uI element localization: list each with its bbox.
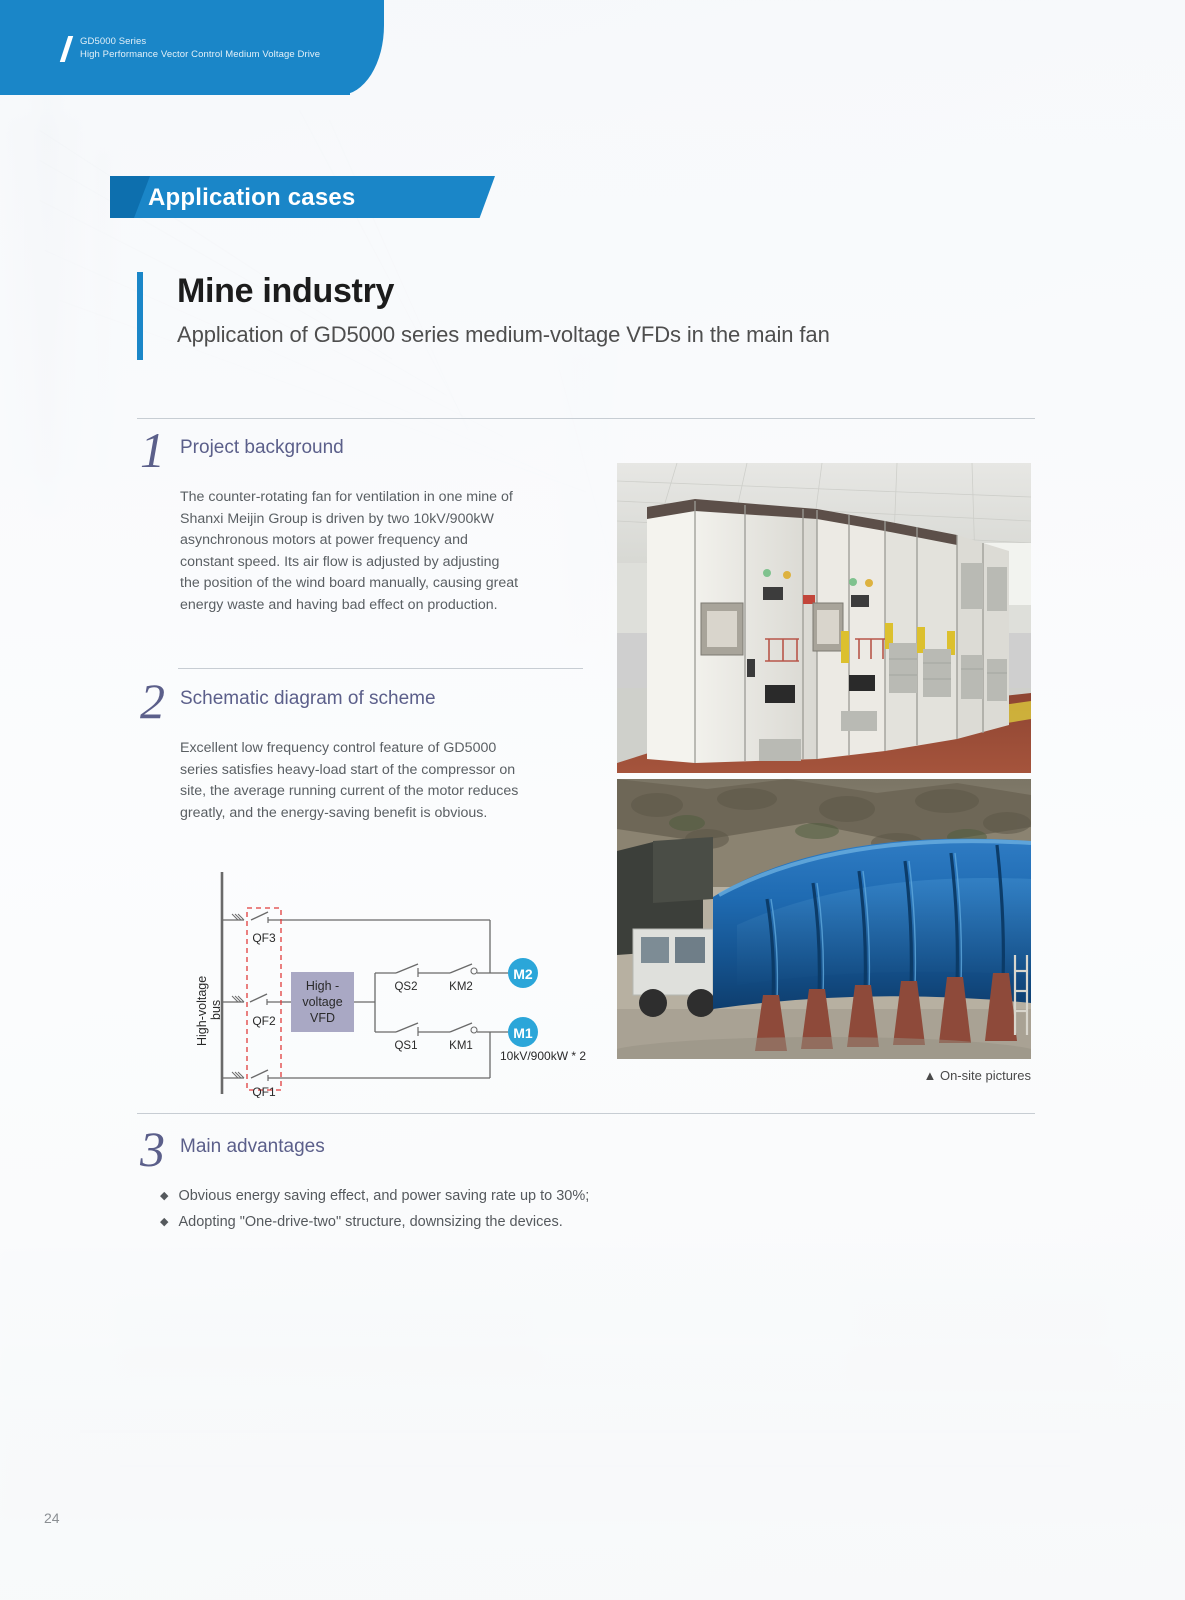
vfd-label-line-3: VFD <box>310 1011 335 1025</box>
high-voltage-bus-label-line-1: High-voltage <box>195 976 209 1046</box>
switch-qs1-label: QS1 <box>394 1040 417 1052</box>
breaker-qf2-label: QF2 <box>252 1014 276 1028</box>
motor-m1-label: M1 <box>513 1025 533 1041</box>
background-shape <box>600 330 614 670</box>
motor-m2-label: M2 <box>513 966 533 982</box>
photo-caption: ▲ On-site pictures <box>760 1068 1031 1083</box>
header-series-tagline: High Performance Vector Control Medium V… <box>80 49 320 62</box>
background-shape <box>40 200 504 437</box>
section-1-body: The counter-rotating fan for ventilation… <box>180 487 520 616</box>
application-cases-tab: Application cases <box>110 176 495 218</box>
advantages-list: ◆ Obvious energy saving effect, and powe… <box>160 1186 589 1238</box>
page-subtitle: Application of GD5000 series medium-volt… <box>177 322 830 348</box>
diamond-bullet-icon: ◆ <box>160 1214 168 1231</box>
motor-rating-label: 10kV/900kW * 2 <box>500 1049 586 1063</box>
background-shape <box>850 1290 1110 1380</box>
section-1-number: 1 <box>140 425 165 475</box>
advantage-text: Obvious energy saving effect, and power … <box>178 1186 589 1208</box>
application-cases-label: Application cases <box>148 184 355 212</box>
background-shape <box>36 90 58 510</box>
page-title: Mine industry <box>177 272 394 311</box>
section-1-heading: Project background <box>180 437 344 459</box>
divider-above-section-2 <box>178 668 583 669</box>
switch-km1-label: KM1 <box>449 1040 473 1052</box>
schematic-diagram: High - voltage VFD M2 QS2 KM2 M1 QS1 KM1 <box>178 868 598 1098</box>
advantage-text: Adopting "One-drive-two" structure, down… <box>178 1212 562 1234</box>
background-shape <box>0 1345 1185 1395</box>
header-brand-text: GD5000 Series High Performance Vector Co… <box>80 36 320 62</box>
photo-drive-cabinets <box>617 463 1031 773</box>
background-shape <box>80 1430 1080 1433</box>
divider-above-section-1 <box>137 418 1035 419</box>
section-2-body: Excellent low frequency control feature … <box>180 738 520 824</box>
background-shape <box>0 1400 1185 1520</box>
list-item: ◆ Obvious energy saving effect, and powe… <box>160 1186 589 1208</box>
section-2-number: 2 <box>140 676 165 726</box>
background-shape <box>10 120 80 480</box>
section-3-number: 3 <box>140 1124 165 1174</box>
breaker-qf3-label: QF3 <box>252 931 276 945</box>
background-shape <box>565 350 595 650</box>
page-number: 24 <box>44 1510 60 1526</box>
high-voltage-bus-label-line-2: bus <box>209 1000 223 1020</box>
background-shape <box>95 150 111 480</box>
vfd-label-line-1: High - <box>306 979 339 993</box>
photo-mine-fan <box>617 779 1031 1059</box>
background-shape <box>120 1465 1070 1467</box>
switch-qs2-label: QS2 <box>394 981 417 993</box>
breaker-qf1-label: QF1 <box>252 1085 276 1098</box>
background-shape <box>299 110 469 428</box>
background-shape <box>0 1250 1185 1340</box>
diamond-bullet-icon: ◆ <box>160 1188 168 1205</box>
section-2-heading: Schematic diagram of scheme <box>180 688 436 710</box>
background-shape <box>120 1300 540 1370</box>
switch-km2-label: KM2 <box>449 981 473 993</box>
header-series-name: GD5000 Series <box>80 36 320 49</box>
list-item: ◆ Adopting "One-drive-two" structure, do… <box>160 1212 589 1234</box>
section-3-heading: Main advantages <box>180 1136 325 1158</box>
title-accent-bar <box>137 272 143 360</box>
divider-above-section-3 <box>137 1113 1035 1114</box>
vfd-label-line-2: voltage <box>302 995 342 1009</box>
